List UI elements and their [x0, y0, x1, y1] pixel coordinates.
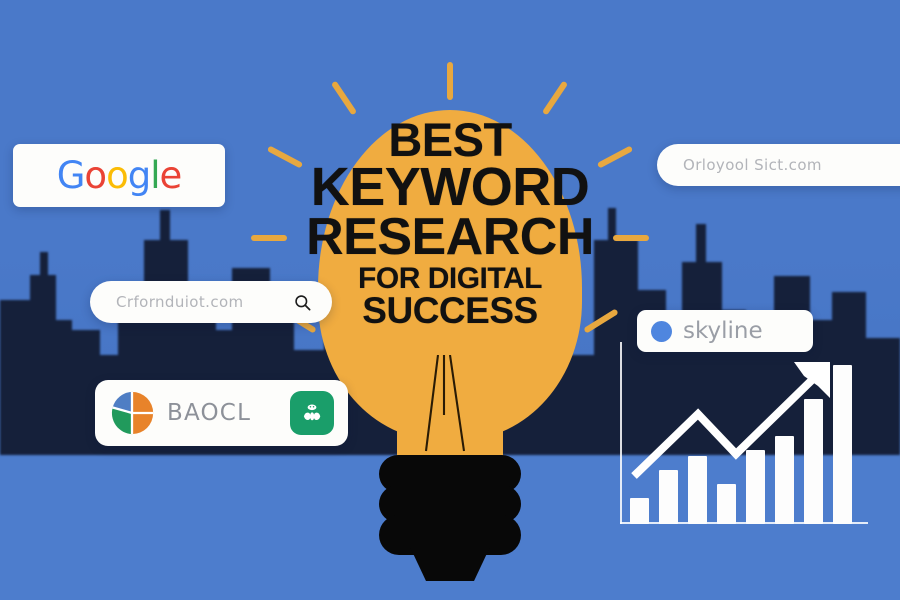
- chart-trend-line: [608, 336, 873, 532]
- google-letter-o1: o: [84, 154, 106, 197]
- google-letter-g: G: [57, 154, 85, 197]
- headline-line-3: RESEARCH: [300, 213, 600, 262]
- search-input-left[interactable]: Crfornduiot.com: [116, 293, 293, 311]
- headline-line-1: BEST: [300, 118, 600, 162]
- search-input-right[interactable]: Orloyool Sict.com: [683, 156, 900, 174]
- poster-headline: BEST KEYWORD RESEARCH FOR DIGITAL SUCCES…: [300, 118, 600, 329]
- pie-chart-logo: [109, 390, 155, 436]
- search-bar-right[interactable]: Orloyool Sict.com: [657, 144, 900, 186]
- headline-line-4: FOR DIGITAL: [300, 265, 600, 293]
- google-letter-e: e: [159, 154, 181, 197]
- bulb-filament: [318, 355, 582, 465]
- headline-line-2: KEYWORD: [300, 162, 600, 213]
- ray-right: [613, 235, 649, 241]
- search-bar-left[interactable]: Crfornduiot.com: [90, 281, 332, 323]
- google-wordmark: Google: [57, 154, 182, 197]
- baocl-label: BAOCL: [167, 400, 278, 426]
- search-icon[interactable]: [293, 293, 312, 312]
- baocl-card[interactable]: BAOCL: [95, 380, 348, 446]
- growth-chart: [608, 336, 873, 532]
- poster-canvas: BEST KEYWORD RESEARCH FOR DIGITAL SUCCES…: [0, 0, 900, 600]
- wechat-glyph-icon: [299, 400, 325, 426]
- google-letter-o2: o: [106, 154, 128, 197]
- google-letter-g2: g: [128, 154, 151, 197]
- green-app-icon[interactable]: [290, 391, 334, 435]
- headline-line-5: SUCCESS: [300, 294, 600, 329]
- google-logo-card[interactable]: Google: [13, 144, 225, 207]
- ray-left: [251, 235, 287, 241]
